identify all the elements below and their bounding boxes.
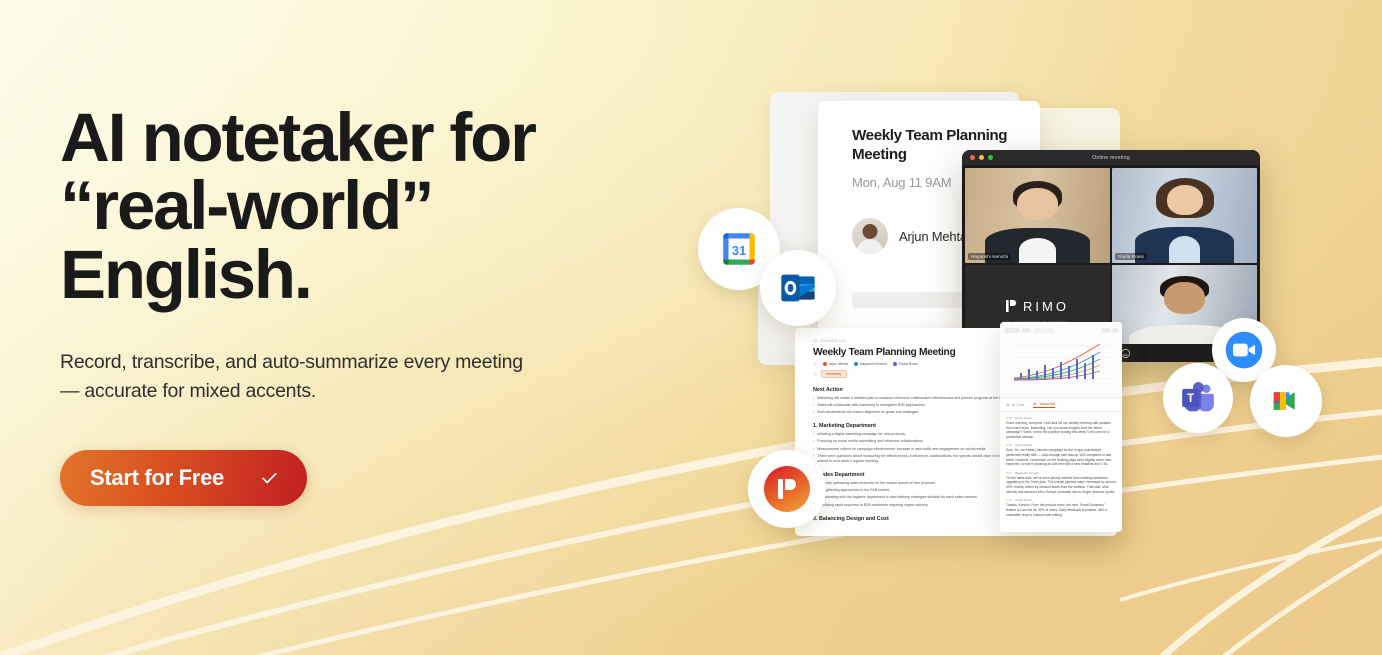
- rimo-brand-name: RIMO: [1023, 299, 1069, 314]
- rimo-logo-icon: [764, 466, 810, 512]
- google-meet-icon: [1265, 380, 1307, 422]
- transcript-text: On the sales side, we've seen steady int…: [1006, 476, 1116, 494]
- transcript-timestamp: 0:00: [1006, 416, 1012, 420]
- attendee-name: Arjun Mehta: [829, 362, 848, 366]
- line-chart: [1004, 335, 1118, 385]
- check-icon: [260, 469, 279, 488]
- sparkle-icon: [1006, 403, 1010, 407]
- attendee-name: Giulia Rossi: [899, 362, 918, 366]
- transcript-entry: 0:21Arjun Mehta Sure. So, our latest Lin…: [1006, 443, 1116, 466]
- window-titlebar: Online meeting: [962, 150, 1260, 165]
- transcript-entry: 0:00Giulia Rossi Good morning, everyone.…: [1006, 416, 1116, 439]
- participant-name: Giulia Rossi: [1115, 253, 1147, 260]
- cta-label: Start for Free: [90, 465, 224, 491]
- attendee-chip: Hayaoshi Kenichi: [854, 362, 887, 366]
- transcript-speaker: Giulia Rossi: [1015, 416, 1032, 420]
- attendee-chip: Arjun Mehta: [823, 362, 848, 366]
- transcript-speaker: Arjun Mehta: [1015, 443, 1032, 447]
- microsoft-teams-icon: T: [1178, 378, 1218, 418]
- transcript-text: Good morning, everyone. Let's kick off o…: [1006, 421, 1116, 439]
- transcript-timestamp: 0:47: [1006, 471, 1012, 475]
- chart-toolbar: [1004, 326, 1118, 335]
- avatar: [852, 218, 888, 254]
- svg-text:T: T: [1187, 392, 1194, 405]
- hero-section: AI notetaker for “real-world” English. R…: [0, 0, 1382, 655]
- tab-label: Transcript: [1039, 402, 1055, 406]
- invite-attendee-name: Arjun Mehta: [899, 229, 967, 244]
- transcript-text: Sure. So, our latest LinkedIn campaign f…: [1006, 448, 1116, 466]
- transcript-timestamp: 1:12: [1006, 498, 1012, 502]
- transcript-entry: 0:47Hayaoshi Kenichi On the sales side, …: [1006, 471, 1116, 494]
- outlook-icon: [778, 268, 818, 308]
- attendee-chip: Giulia Rossi: [893, 362, 918, 366]
- rimo-logo-icon: [1006, 299, 1017, 313]
- microsoft-teams-badge[interactable]: T: [1163, 363, 1233, 433]
- transcript-text: Thanks, Kenichi. From the product team, …: [1006, 503, 1116, 517]
- zoom-icon: [1222, 328, 1266, 372]
- transcript-icon: [1033, 402, 1037, 406]
- tab-label: AI Chat: [1012, 403, 1024, 407]
- transcript-panel: AI Chat Transcript 0:00Giulia Rossi Good…: [1000, 322, 1122, 532]
- hero-copy: AI notetaker for “real-world” English. R…: [60, 104, 680, 506]
- tab-ai-chat[interactable]: AI Chat: [1006, 402, 1024, 408]
- status-badge[interactable]: Marketing: [821, 370, 847, 378]
- rimo-badge[interactable]: [748, 450, 826, 528]
- notes-date: 2025/08/11 9:00: [820, 339, 846, 343]
- hero-subheadline: Record, transcribe, and auto-summarize e…: [60, 348, 680, 407]
- google-meet-badge[interactable]: [1250, 365, 1322, 437]
- product-collage: Weekly Team Planning Meeting Mon, Aug 11…: [700, 60, 1360, 620]
- person-icon: [813, 362, 817, 366]
- calendar-icon: [813, 339, 817, 343]
- transcript-entry: 1:12Giulia Rossi Thanks, Kenichi. From t…: [1006, 498, 1116, 517]
- transcript-speaker: Hayaoshi Kenichi: [1015, 471, 1039, 475]
- google-calendar-icon: 31: [718, 228, 760, 270]
- start-for-free-button[interactable]: Start for Free: [60, 450, 307, 506]
- transcript-entries: 0:00Giulia Rossi Good morning, everyone.…: [1000, 412, 1122, 525]
- svg-text:31: 31: [732, 243, 747, 258]
- video-tile[interactable]: Giulia Rossi: [1112, 168, 1257, 263]
- outlook-badge[interactable]: [760, 250, 836, 326]
- window-title: Online meeting: [962, 155, 1260, 161]
- tab-transcript[interactable]: Transcript: [1033, 402, 1055, 408]
- transcript-tabs: AI Chat Transcript: [1000, 398, 1122, 412]
- video-tile[interactable]: Hayaoshi Kenichi: [965, 168, 1110, 263]
- tag-icon: [813, 372, 817, 376]
- transcript-timestamp: 0:21: [1006, 443, 1012, 447]
- attendee-name: Hayaoshi Kenichi: [860, 362, 887, 366]
- transcript-speaker: Giulia Rossi: [1015, 498, 1032, 502]
- page-title: AI notetaker for “real-world” English.: [60, 104, 680, 309]
- participant-name: Hayaoshi Kenichi: [968, 253, 1011, 260]
- chart-preview: [1000, 322, 1122, 398]
